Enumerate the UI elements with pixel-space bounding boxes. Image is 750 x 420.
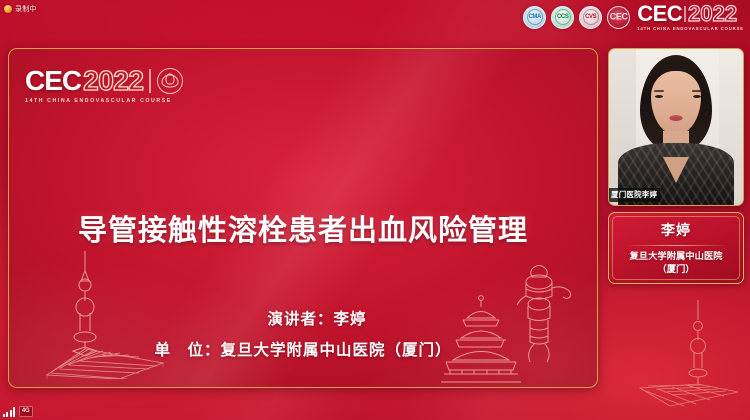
presentation-viewer: 录制中 CMA CCS CVS CEC CEC 2022 14TH CH <box>0 0 750 420</box>
slide-title: 导管接触性溶栓患者出血风险管理 <box>9 207 597 249</box>
slide-speaker-block: 演讲者：李婷 单 位：复旦大学附属中山医院（厦门） <box>9 307 597 360</box>
cec-wordmark-year: 2022 <box>688 3 737 25</box>
speaker-affiliation-line: 单 位：复旦大学附属中山医院（厦门） <box>9 338 597 360</box>
seal-logo-3-mark: CVS <box>585 14 596 20</box>
oriental-pearl-tower-outer-icon <box>598 296 748 416</box>
participant-video-tile[interactable]: 厦门医院李婷 <box>608 48 744 206</box>
wordmark-divider <box>684 6 686 22</box>
cec-wordmark-subtitle: 14TH CHINA ENDOVASCULAR COURSE <box>637 26 744 31</box>
cec-wordmark-top: CEC 2022 14TH CHINA ENDOVASCULAR COURSE <box>637 3 744 31</box>
slide-logo-cec-text: CEC <box>25 67 81 95</box>
participant-name-overlay: 厦门医院李婷 <box>609 188 660 203</box>
name-card-divider <box>625 245 727 246</box>
seal-logo-4-icon: CEC <box>607 6 630 29</box>
recording-indicator: 录制中 <box>4 3 37 14</box>
participant-brow-left <box>654 90 664 92</box>
speaker-name-card: 李婷 复旦大学附属中山医院 （厦门） <box>608 212 744 284</box>
top-bar: 录制中 CMA CCS CVS CEC CEC 2022 14TH CH <box>0 0 750 38</box>
signal-strength-icon <box>3 407 15 417</box>
network-type-badge: 4G <box>19 406 33 417</box>
seal-logo-3-icon: CVS <box>579 6 602 29</box>
seal-logo-2-icon: CCS <box>551 6 574 29</box>
recording-label: 录制中 <box>15 4 37 14</box>
name-card-org-line2: （厦门） <box>615 263 737 276</box>
status-bar: 4G <box>3 406 33 417</box>
participant-eye-left <box>655 95 663 98</box>
name-card-org-line1: 复旦大学附属中山医院 <box>615 250 737 263</box>
slide-logo-year-text: 2022 <box>83 67 143 95</box>
conference-brand-bar: CMA CCS CVS CEC CEC 2022 14TH CHINA ENDO… <box>523 3 744 31</box>
speaker-name-line: 演讲者：李婷 <box>9 307 597 329</box>
slide-logo-subtitle: 14TH CHINA ENDOVASCULAR COURSE <box>25 98 183 104</box>
slide-canvas[interactable]: CEC 2022 14TH CHINA ENDOVASCULAR COURSE … <box>8 48 598 388</box>
seal-logo-2-mark: CCS <box>557 14 568 20</box>
participant-mouth <box>670 115 683 121</box>
cec-wordmark-text: CEC <box>637 3 682 25</box>
record-dot-icon <box>4 5 12 13</box>
name-card-name: 李婷 <box>615 220 737 240</box>
lotus-emblem-icon <box>157 68 183 94</box>
participant-brow-right <box>692 90 702 92</box>
seal-logo-4-mark: CEC <box>610 13 628 22</box>
participant-eye-right <box>693 95 701 98</box>
slide-logo-divider <box>149 69 151 93</box>
seal-logo-1-mark: CMA <box>528 14 540 20</box>
right-side-panel: 厦门医院李婷 李婷 复旦大学附属中山医院 （厦门） <box>608 48 744 284</box>
participant-collar <box>663 157 689 183</box>
slide-cec-logo: CEC 2022 14TH CHINA ENDOVASCULAR COURSE <box>25 67 183 104</box>
seal-logo-1-icon: CMA <box>523 6 546 29</box>
